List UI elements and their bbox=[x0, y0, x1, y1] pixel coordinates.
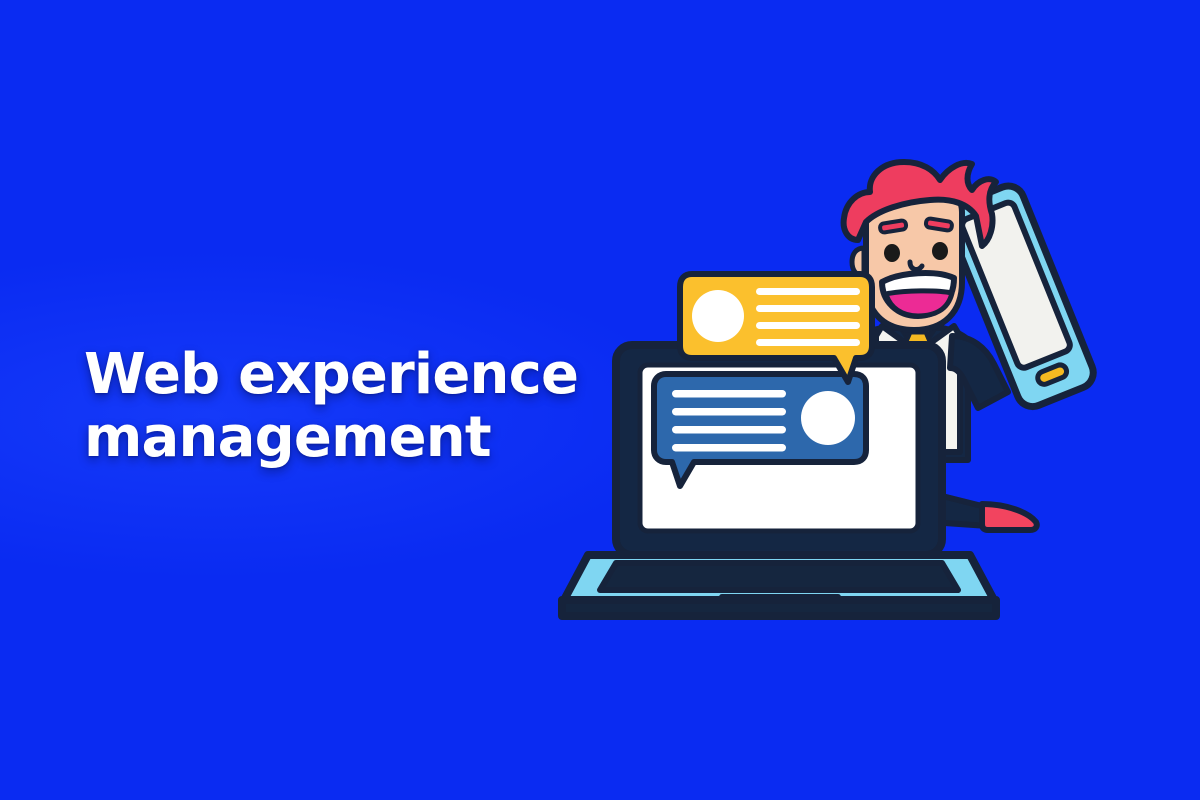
promo-banner: Web experience management bbox=[0, 0, 1200, 800]
character-eyebrow-left bbox=[880, 220, 907, 233]
laptop-keyboard bbox=[600, 563, 958, 590]
chat-bubble-blue-avatar bbox=[801, 391, 855, 445]
character-eye-right bbox=[932, 242, 948, 260]
chat-bubble-yellow-avatar bbox=[692, 290, 744, 342]
page-title: Web experience management bbox=[84, 344, 604, 469]
character-shoe bbox=[982, 504, 1037, 530]
hero-illustration bbox=[570, 160, 1130, 640]
character-eye-left bbox=[884, 244, 900, 262]
laptop-front-edge bbox=[562, 600, 996, 616]
character-eyebrow-right bbox=[925, 218, 952, 231]
